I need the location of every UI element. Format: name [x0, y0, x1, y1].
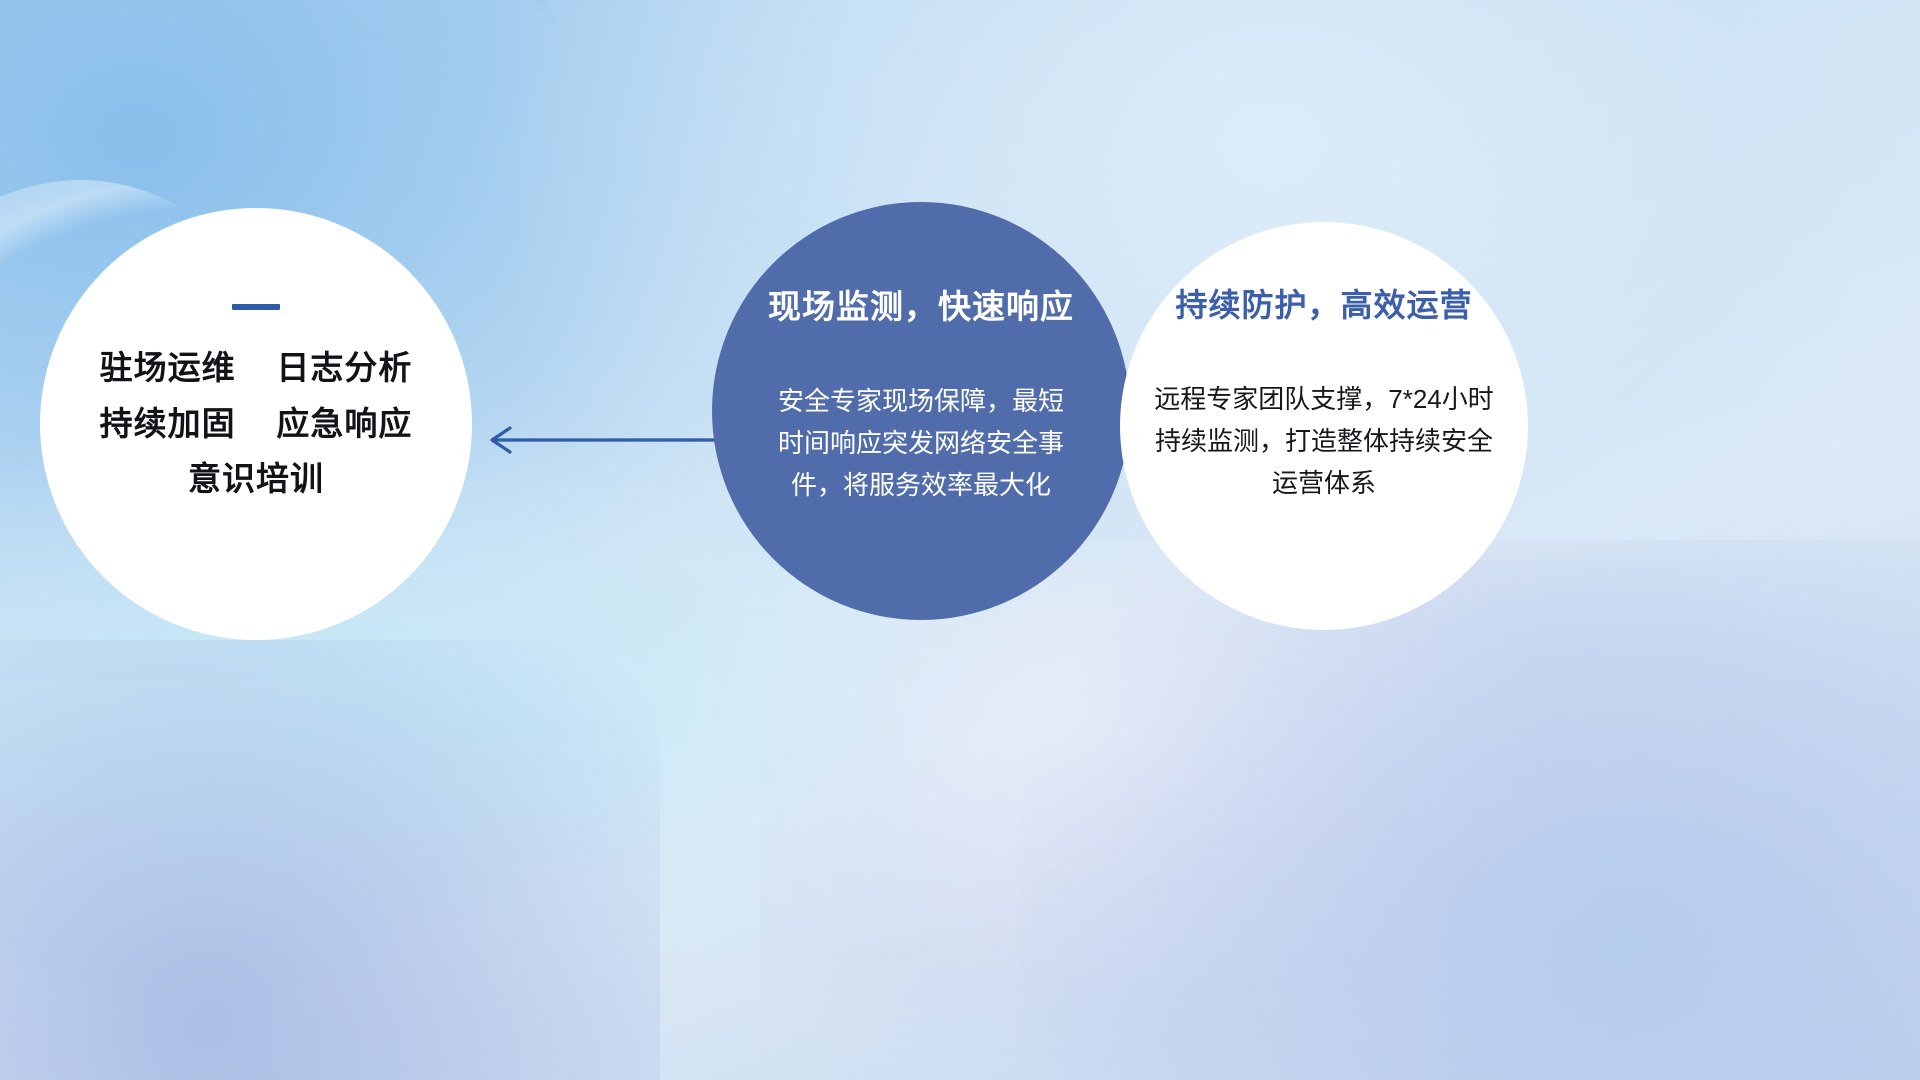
capability-line-3: 意识培训: [188, 461, 324, 497]
onsite-monitoring-circle[interactable]: 现场监测，快速响应 安全专家现场保障，最短时间响应突发网络安全事件，将服务效率最…: [712, 202, 1130, 620]
capability-line-2: 持续加固 应急响应: [100, 406, 413, 442]
accent-dash-icon: [232, 304, 280, 310]
capability-line-1: 驻场运维 日志分析: [100, 350, 413, 386]
continuous-protection-title: 持续防护，高效运营: [1175, 280, 1472, 326]
background-glow-bottom-right: [1020, 540, 1920, 1080]
slide-canvas: 驻场运维 日志分析 持续加固 应急响应 意识培训 现场监测，快速响应 安全专家现…: [0, 0, 1920, 1080]
continuous-protection-circle[interactable]: 持续防护，高效运营 远程专家团队支撑，7*24小时持续监测，打造整体持续安全运营…: [1120, 222, 1528, 630]
connector-arrow-icon: [480, 415, 730, 465]
onsite-monitoring-title: 现场监测，快速响应: [768, 280, 1074, 328]
capability-keyword-list: 驻场运维 日志分析 持续加固 应急响应 意识培训: [40, 350, 472, 497]
onsite-monitoring-body: 安全专家现场保障，最短时间响应突发网络安全事件，将服务效率最大化: [768, 380, 1074, 506]
background-glow-bottom-left: [0, 640, 660, 1080]
continuous-protection-body: 远程专家团队支撑，7*24小时持续监测，打造整体持续安全运营体系: [1149, 378, 1499, 504]
service-capability-circle[interactable]: 驻场运维 日志分析 持续加固 应急响应 意识培训: [40, 208, 472, 640]
